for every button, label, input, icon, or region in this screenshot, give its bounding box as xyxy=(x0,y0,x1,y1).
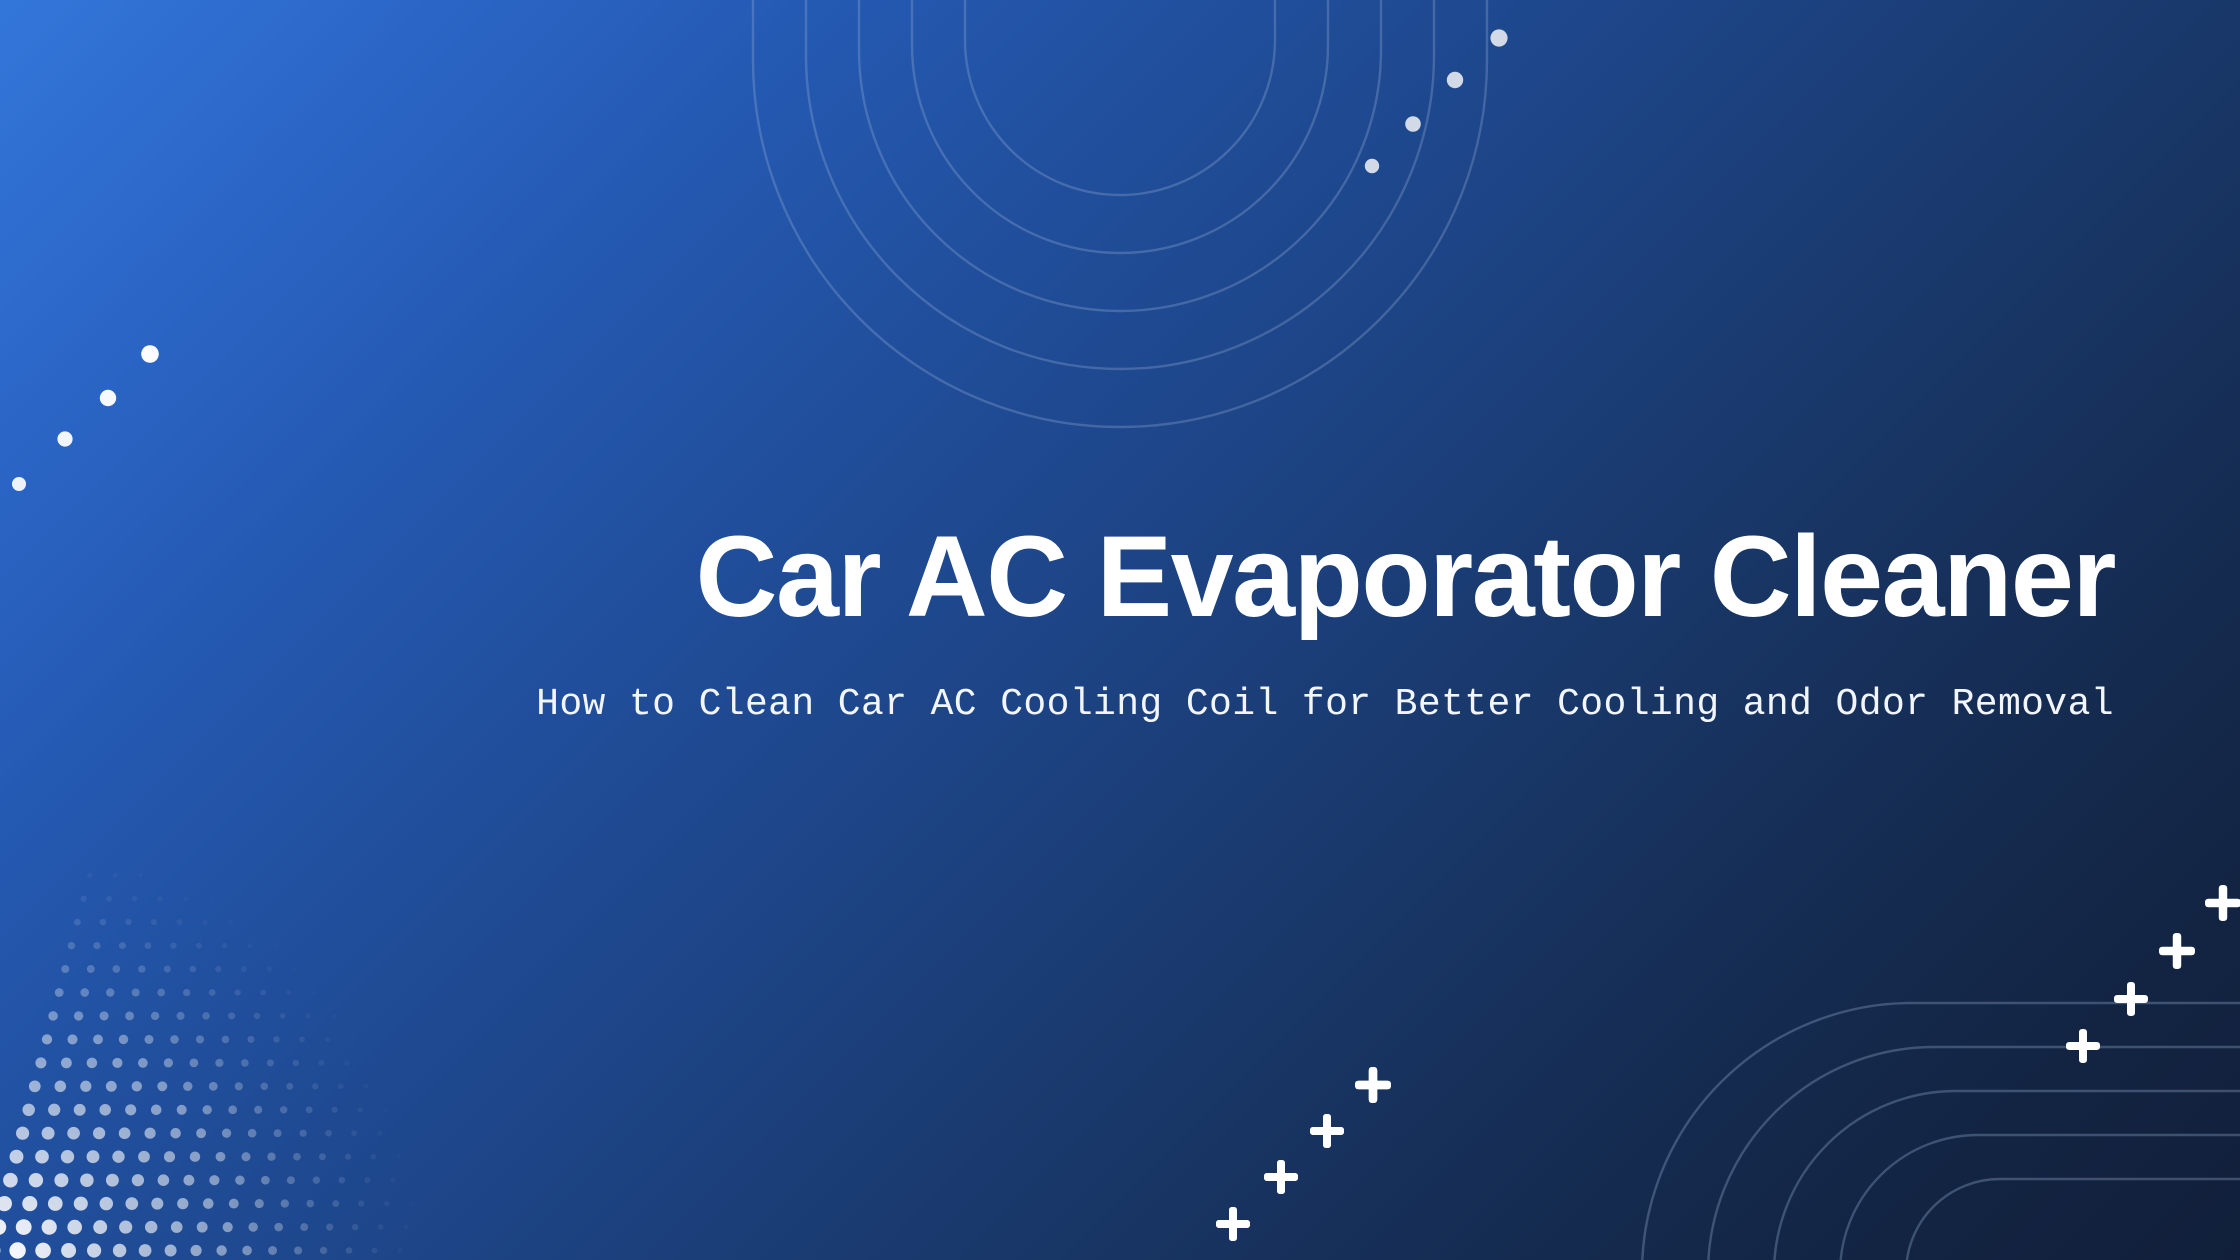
slide-content: Car AC Evaporator Cleaner How to Clean C… xyxy=(0,0,2240,1260)
presentation-slide: Car AC Evaporator Cleaner How to Clean C… xyxy=(0,0,2240,1260)
slide-title: Car AC Evaporator Cleaner xyxy=(32,520,2115,635)
slide-subtitle: How to Clean Car AC Cooling Coil for Bet… xyxy=(0,686,2114,724)
